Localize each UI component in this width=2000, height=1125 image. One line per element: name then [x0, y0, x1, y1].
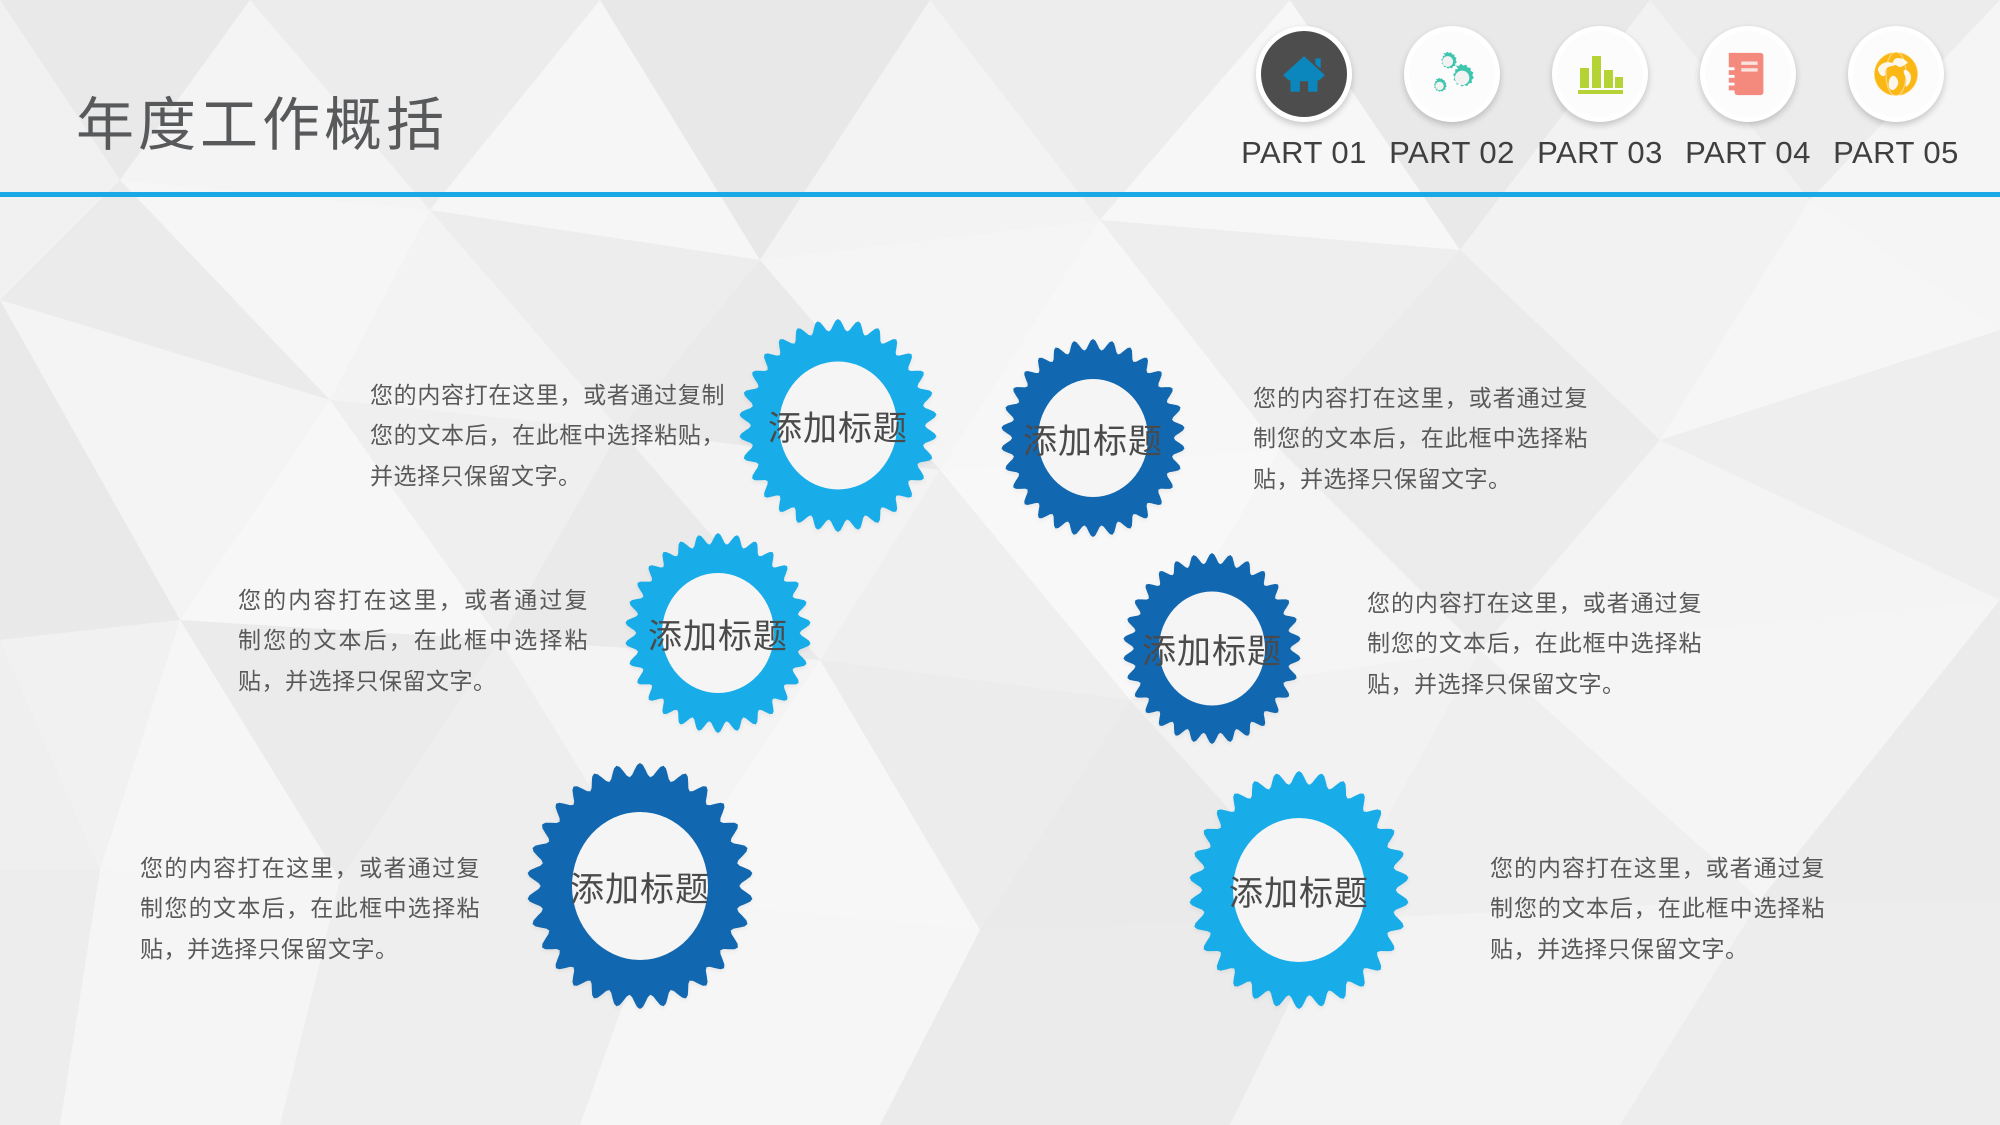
globe-icon — [1870, 48, 1922, 100]
nav-circle-part-03[interactable] — [1552, 26, 1648, 122]
nav-item-part-03[interactable]: PART 03 — [1526, 26, 1674, 171]
nav-circle-part-02[interactable] — [1404, 26, 1500, 122]
notebook-icon — [1724, 49, 1772, 99]
gear-text-6: 您的内容打在这里，或者通过复制您的文本后，在此框中选择粘贴，并选择只保留文字。 — [1490, 848, 1825, 969]
nav-circle-part-05[interactable] — [1848, 26, 1944, 122]
nav-item-part-01[interactable]: PART 01 — [1230, 26, 1378, 171]
gear-node-2[interactable]: 添加标题 — [1000, 338, 1186, 538]
gear-node-6[interactable]: 添加标题 — [1188, 770, 1410, 1010]
nav-label-part-02: PART 02 — [1389, 135, 1515, 171]
section-nav: PART 01 PART — [1230, 26, 1970, 171]
gear-node-5[interactable]: 添加标题 — [526, 762, 754, 1010]
nav-item-part-04[interactable]: PART 04 — [1674, 26, 1822, 171]
gear-text-2: 您的内容打在这里，或者通过复制您的文本后，在此框中选择粘贴，并选择只保留文字。 — [1253, 378, 1588, 499]
home-icon — [1279, 49, 1329, 99]
nav-label-part-03: PART 03 — [1537, 135, 1663, 171]
nav-item-part-02[interactable]: PART 02 — [1378, 26, 1526, 171]
gear-node-3[interactable]: 添加标题 — [624, 532, 812, 734]
gear-node-4[interactable]: 添加标题 — [1122, 552, 1302, 745]
nav-label-part-01: PART 01 — [1241, 135, 1367, 171]
nav-circle-part-04[interactable] — [1700, 26, 1796, 122]
slide-header: 年度工作概括 PART 01 — [0, 0, 2000, 196]
nav-label-part-05: PART 05 — [1833, 135, 1959, 171]
nav-item-part-05[interactable]: PART 05 — [1822, 26, 1970, 171]
gear-text-1: 您的内容打在这里，或者通过复制您的文本后，在此框中选择粘贴，并选择只保留文字。 — [370, 375, 725, 496]
header-divider — [0, 192, 2000, 197]
bar-chart-icon — [1574, 50, 1626, 98]
nav-label-part-04: PART 04 — [1685, 135, 1811, 171]
gear-text-4: 您的内容打在这里，或者通过复制您的文本后，在此框中选择粘贴，并选择只保留文字。 — [1367, 583, 1702, 704]
gears-icon — [1425, 49, 1479, 99]
gear-text-3: 您的内容打在这里，或者通过复制您的文本后，在此框中选择粘贴，并选择只保留文字。 — [238, 580, 588, 701]
gear-node-1[interactable]: 添加标题 — [738, 318, 938, 533]
nav-circle-part-01[interactable] — [1256, 26, 1352, 122]
page-title: 年度工作概括 — [76, 78, 448, 162]
gear-text-5: 您的内容打在这里，或者通过复制您的文本后，在此框中选择粘贴，并选择只保留文字。 — [140, 848, 480, 969]
